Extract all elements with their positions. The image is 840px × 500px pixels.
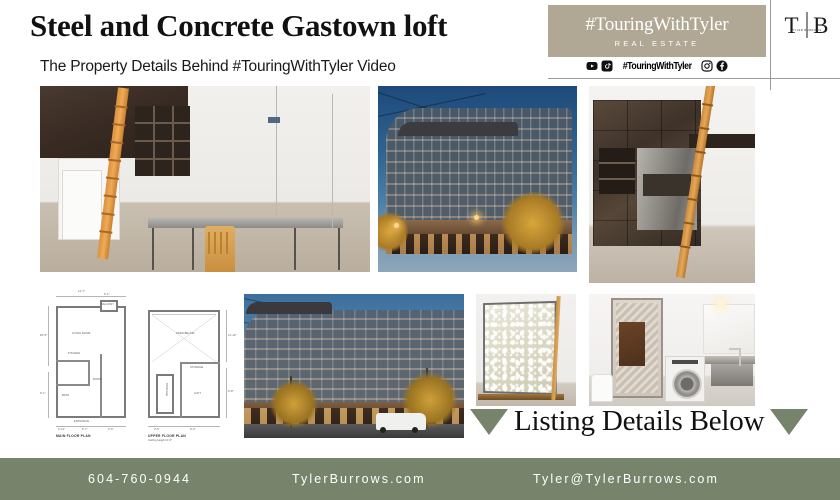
- photo-building-street-view: [244, 294, 464, 438]
- fp-dimension: 6'-1": [104, 293, 110, 296]
- fp-dimension: 4'-11": [58, 428, 65, 431]
- street-lamp: [474, 215, 479, 220]
- fp-dimension-line: [148, 426, 220, 427]
- fp-room-label: OPEN BELOW: [176, 332, 194, 335]
- fp-dimension-line: [48, 306, 49, 366]
- contact-footer: 604-760-0944 TylerBurrows.com Tyler@Tyle…: [0, 458, 840, 500]
- fp-open-to-below-hatch: [152, 314, 216, 362]
- fp-wall: [180, 362, 220, 364]
- listing-details-text: Listing Details Below: [514, 405, 764, 438]
- fp-dimension: 9'-1": [40, 392, 46, 395]
- fp-dimension: 18'-5": [40, 334, 47, 337]
- social-links-row: #TouringWithTyler: [548, 58, 766, 74]
- social-handle: #TouringWithTyler: [623, 61, 692, 72]
- fp-balcony: [100, 300, 118, 312]
- bath-mirror: [703, 304, 755, 354]
- fp-room-label: ROOM: [93, 378, 101, 381]
- table-leg: [152, 228, 154, 270]
- fp-dimension-line: [48, 372, 49, 418]
- fp-dimension-line: [56, 426, 126, 427]
- main-floor-plan-caption: MAIN FLOOR PLAN: [56, 434, 91, 438]
- instagram-icon[interactable]: [701, 60, 713, 72]
- wall-cord: [276, 86, 277, 216]
- fp-room-label: LIVING ROOM: [72, 332, 90, 335]
- wall-plate: [268, 117, 280, 123]
- page-subtitle: The Property Details Behind #TouringWith…: [40, 58, 396, 76]
- fp-room-label: STORAGE: [165, 383, 168, 396]
- ceiling-light: [717, 300, 725, 308]
- fp-wall: [56, 384, 90, 386]
- white-van: [376, 413, 426, 430]
- fp-room-label: ENTRANCE: [74, 420, 89, 423]
- loft-steel-table: [148, 218, 343, 228]
- fp-dimension: 9'-8": [228, 390, 234, 393]
- loft-shelving: [135, 106, 190, 176]
- fp-room-label: BALCONY: [101, 303, 114, 306]
- photo-floor-plan: LIVING ROOM BALCONY KITCHEN ROOM BATH EN…: [38, 288, 238, 443]
- fp-dimension-line: [226, 310, 227, 362]
- upper-floor-plan-ceiling: Ceiling Height 9'-0": [148, 439, 172, 442]
- loft-wooden-chair: [205, 226, 235, 272]
- fp-dimension: 9'-0": [190, 428, 196, 431]
- photo-loft-interior-living: [40, 86, 370, 272]
- washer-dryer: [665, 356, 705, 402]
- fp-wall: [88, 360, 90, 386]
- tiktok-icon[interactable]: [601, 60, 613, 72]
- shower-wood-panel: [619, 322, 645, 366]
- flyer-page: Steel and Concrete Gastown loft The Prop…: [0, 0, 840, 500]
- photo-glass-partition-panel: [476, 294, 576, 406]
- triangle-down-icon-right: [770, 409, 808, 435]
- fp-dimension: 14'-7": [78, 290, 85, 293]
- tyler-burrows-logo: T B TYLER BURROWS: [783, 14, 831, 56]
- fp-room-label: LOFT: [194, 392, 201, 395]
- youtube-icon[interactable]: [586, 60, 598, 72]
- fp-room-label: BATH: [62, 394, 69, 397]
- logo-monogram: T B: [785, 14, 830, 37]
- street-tree: [270, 380, 318, 428]
- listing-details-banner: Listing Details Below: [470, 405, 808, 438]
- brand-badge: #TouringWithTyler REAL ESTATE: [548, 5, 766, 57]
- table-leg: [338, 228, 340, 270]
- logo-subtext: TYLER BURROWS: [792, 29, 821, 32]
- fp-dimension: 3'-5": [154, 428, 160, 431]
- upper-floor-plan-caption: UPPER FLOOR PLAN: [148, 434, 186, 438]
- header-horizontal-rule: [548, 78, 840, 79]
- fp-dimension: 11'-10": [228, 334, 237, 337]
- table-leg: [192, 228, 194, 270]
- fp-wall: [180, 362, 182, 418]
- main-floor-outline: [56, 306, 126, 418]
- footer-email[interactable]: Tyler@TylerBurrows.com: [533, 472, 719, 486]
- header-vertical-rule: [770, 0, 771, 90]
- bath-counter: [705, 356, 755, 364]
- photo-steel-cabinetry-kitchen: [589, 86, 755, 283]
- loft-entry-door: [62, 170, 102, 240]
- fp-wall: [100, 354, 102, 418]
- table-leg: [294, 228, 296, 270]
- fp-room-label: KITCHEN: [68, 352, 80, 355]
- fp-dimension: 3'-6": [108, 428, 114, 431]
- street-tree: [498, 192, 568, 254]
- wall-cord: [332, 94, 333, 234]
- fp-room-label: STORAGE: [190, 366, 203, 369]
- fp-dimension-line: [56, 296, 126, 297]
- fp-dimension-line: [226, 368, 227, 418]
- building-roof-cap: [246, 302, 332, 314]
- page-title: Steel and Concrete Gastown loft: [30, 8, 447, 44]
- sink-faucet: [739, 348, 741, 366]
- facebook-icon[interactable]: [716, 60, 728, 72]
- brand-badge-sub: REAL ESTATE: [615, 39, 700, 48]
- steel-trough-sink: [711, 364, 753, 386]
- open-shelving: [599, 148, 635, 194]
- street-lamp: [394, 223, 399, 228]
- photo-bathroom-laundry: [589, 294, 755, 406]
- brand-badge-main: #TouringWithTyler: [585, 15, 728, 34]
- triangle-down-icon-left: [470, 409, 508, 435]
- footer-phone[interactable]: 604-760-0944: [88, 472, 191, 486]
- textured-glass-panel: [483, 301, 557, 395]
- photo-building-exterior-dusk: [378, 86, 577, 272]
- logo-divider: [806, 12, 807, 38]
- building-roof-cap: [398, 122, 518, 136]
- toilet: [591, 374, 613, 402]
- fp-wall: [56, 360, 90, 362]
- footer-website[interactable]: TylerBurrows.com: [292, 472, 426, 486]
- fp-dimension: 5'-7": [82, 428, 88, 431]
